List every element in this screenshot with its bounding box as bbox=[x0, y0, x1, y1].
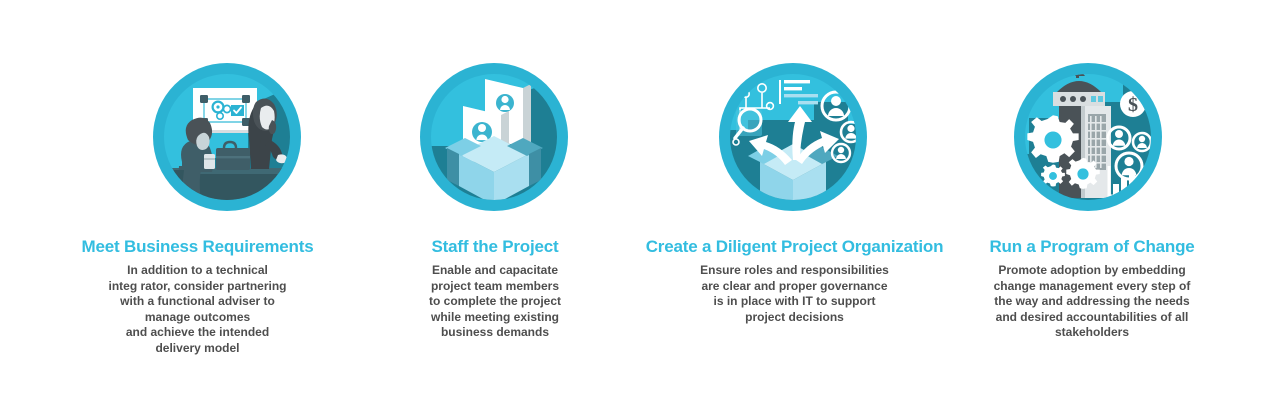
corporate-building-gears-illustration: $ bbox=[1013, 62, 1163, 212]
panel-headline: Staff the Project bbox=[380, 236, 610, 257]
open-box-resumes-illustration bbox=[419, 62, 569, 212]
text-block: Create a Diligent Project Organization E… bbox=[622, 236, 967, 325]
panel-meet-business-requirements: Meet Business Requirements In addition t… bbox=[30, 0, 365, 411]
panel-body: Enable and capacitate project team membe… bbox=[380, 263, 610, 341]
box-arrows-governance-illustration bbox=[718, 62, 868, 212]
panel-headline: Create a Diligent Project Organization bbox=[622, 236, 967, 257]
text-block: Staff the Project Enable and capacitate … bbox=[380, 236, 610, 341]
infographic-board: Meet Business Requirements In addition t… bbox=[0, 0, 1280, 411]
panel-run-a-program-of-change: $ bbox=[972, 0, 1212, 411]
panel-headline: Run a Program of Change bbox=[972, 236, 1212, 257]
panel-body: Ensure roles and responsibilities are cl… bbox=[622, 263, 967, 325]
panel-create-a-diligent-project-organization: Create a Diligent Project Organization E… bbox=[622, 0, 967, 411]
text-block: Run a Program of Change Promote adoption… bbox=[972, 236, 1212, 341]
text-block: Meet Business Requirements In addition t… bbox=[30, 236, 365, 356]
svg-text:$: $ bbox=[1128, 94, 1138, 116]
panel-body: Promote adoption by embedding change man… bbox=[972, 263, 1212, 341]
panel-headline: Meet Business Requirements bbox=[30, 236, 365, 257]
meeting-whiteboard-illustration bbox=[152, 62, 302, 212]
panel-body: In addition to a technical integ rator, … bbox=[30, 263, 365, 356]
panel-staff-the-project: Staff the Project Enable and capacitate … bbox=[380, 0, 610, 411]
